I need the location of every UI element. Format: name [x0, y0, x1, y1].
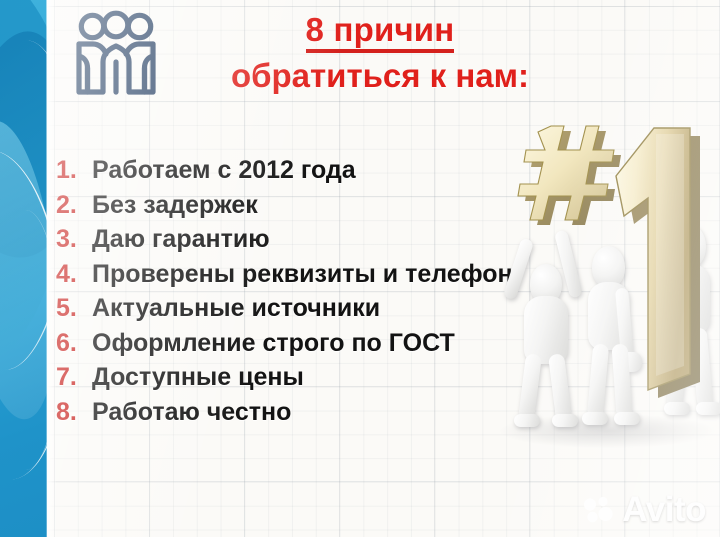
figure-left-leg-l: [518, 353, 542, 420]
figure-left-foot-l: [514, 414, 540, 427]
title-line-1: 8 причин: [306, 12, 455, 53]
list-item-number: 8.: [56, 397, 92, 429]
strip-edge-highlight: [47, 0, 56, 537]
avito-logo-icon: [583, 495, 617, 525]
list-item-label: Проверены реквизиты и телефон: [92, 259, 513, 291]
list-item-label: Работаем с 2012 года: [92, 155, 356, 187]
golden-number-one: [594, 118, 720, 408]
figure-middle-foot-l: [582, 412, 608, 425]
list-item: 6. Оформление строго по ГОСТ: [56, 328, 526, 360]
avito-watermark-text: Avito: [622, 492, 706, 527]
list-item-label: Актуальные источники: [92, 293, 380, 325]
page-title: 8 причин обратиться к нам:: [180, 12, 580, 96]
list-item-number: 5.: [56, 293, 92, 325]
list-item-number: 1.: [56, 155, 92, 187]
list-item-label: Даю гарантию: [92, 224, 270, 256]
left-blue-accent-strip: [0, 0, 47, 537]
title-line-2: обратиться к нам:: [180, 57, 580, 96]
avito-watermark: Avito: [583, 492, 706, 527]
list-item: 2. Без задержек: [56, 190, 526, 222]
list-item-number: 7.: [56, 362, 92, 394]
list-item: 8. Работаю честно: [56, 397, 526, 429]
list-item: 4. Проверены реквизиты и телефон: [56, 259, 526, 291]
list-item: 3. Даю гарантию: [56, 224, 526, 256]
list-item-number: 2.: [56, 190, 92, 222]
figure-middle-foot-r: [614, 412, 640, 425]
list-item-number: 3.: [56, 224, 92, 256]
figure-left-arm-l: [503, 238, 535, 301]
list-item: 1. Работаем с 2012 года: [56, 155, 526, 187]
list-item-label: Работаю честно: [92, 397, 291, 429]
figure-left: [506, 214, 596, 436]
list-item-label: Без задержек: [92, 190, 258, 222]
group-people-icon: [68, 8, 164, 100]
figure-left-leg-r: [548, 353, 572, 420]
list-item-number: 6.: [56, 328, 92, 360]
reasons-list: 1. Работаем с 2012 года 2. Без задержек …: [56, 155, 526, 431]
number-one-artwork: [492, 118, 720, 448]
figure-left-foot-r: [552, 414, 578, 427]
blue-swoosh-curve-3: [0, 210, 47, 470]
list-item-number: 4.: [56, 259, 92, 291]
list-item-label: Оформление строго по ГОСТ: [92, 328, 455, 360]
list-item-label: Доступные цены: [92, 362, 304, 394]
list-item: 7. Доступные цены: [56, 362, 526, 394]
list-item: 5. Актуальные источники: [56, 293, 526, 325]
poster-canvas: 8 причин обратиться к нам: 1. Работаем с…: [0, 0, 720, 537]
